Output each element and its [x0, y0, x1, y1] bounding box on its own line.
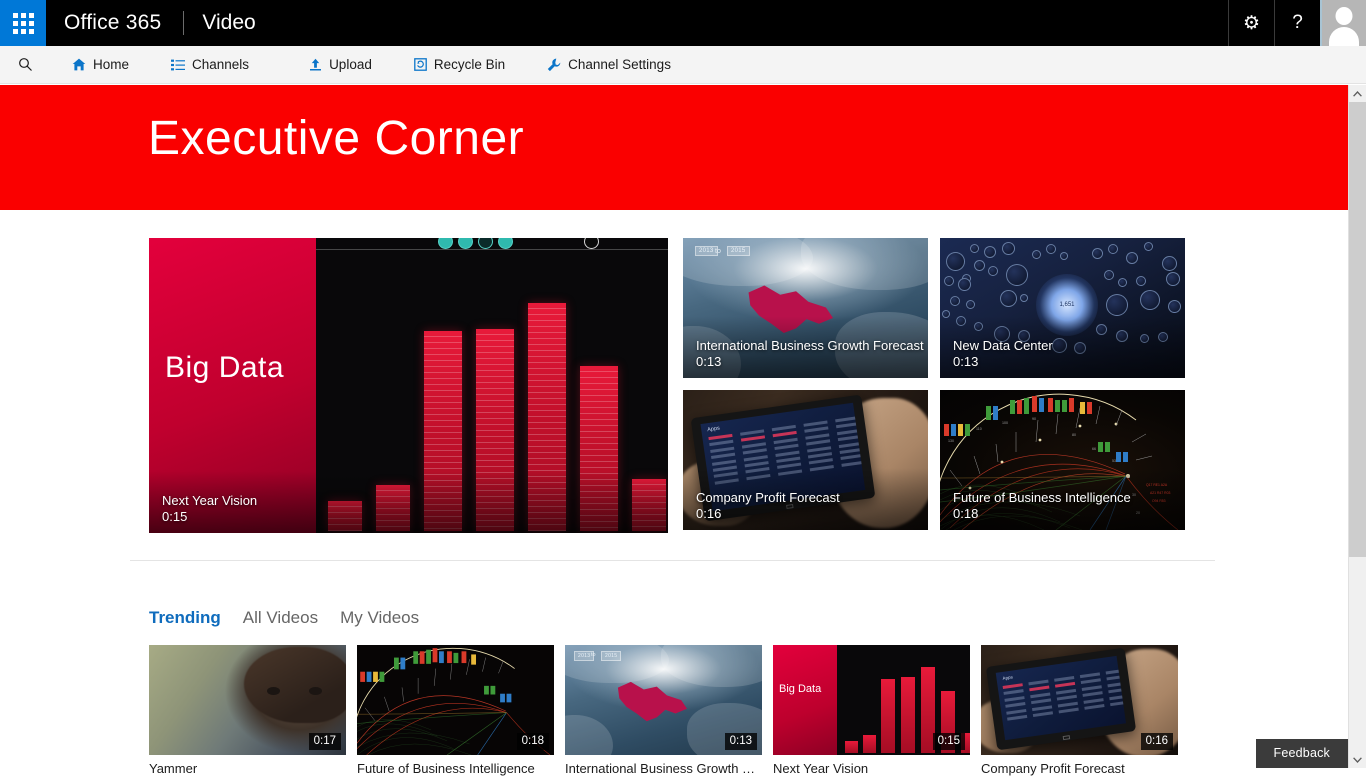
video-title: Future of Business Intelligence [357, 761, 554, 776]
tile-title: Company Profit Forecast [696, 490, 840, 505]
duration-badge: 0:15 [933, 733, 965, 750]
app-launcher-waffle-icon[interactable] [0, 0, 46, 46]
video-title: Next Year Vision [773, 761, 970, 776]
video-card[interactable]: 0:18 Future of Business Intelligence [357, 645, 554, 776]
nav-item-channel-settings[interactable]: Channel Settings [543, 46, 675, 84]
tile-duration: 0:16 [696, 506, 840, 522]
tile-title: International Business Growth Forecast [696, 338, 924, 353]
duration-badge: 0:13 [725, 733, 757, 750]
svg-text:110: 110 [976, 427, 982, 431]
nav-item-home[interactable]: Home [68, 46, 133, 84]
suite-bar: Office 365 Video ⚙ ? [0, 0, 1366, 46]
wrench-icon [547, 58, 561, 72]
avatar[interactable] [1320, 0, 1366, 46]
video-thumbnail[interactable]: 0:18 [357, 645, 554, 755]
map-to-label: to [715, 248, 721, 255]
tile-title: New Data Center [953, 338, 1053, 353]
tile-duration: 0:13 [953, 354, 1053, 370]
scroll-up-arrow-icon[interactable] [1349, 85, 1366, 102]
spotlight-tile-new-data-center[interactable]: 1,651 New Data Center 0:13 [940, 238, 1185, 378]
nav-item-recycle-bin-label: Recycle Bin [434, 57, 505, 72]
scroll-down-arrow-icon[interactable] [1349, 751, 1366, 768]
svg-text:130: 130 [948, 439, 954, 443]
section-divider [130, 560, 1215, 561]
video-card[interactable]: Big Data 0:15 Next Year Vision [773, 645, 970, 776]
feedback-button[interactable]: Feedback [1256, 739, 1349, 768]
hero-icon-row [316, 238, 668, 250]
waffle-grid [13, 13, 34, 34]
eye-right [309, 687, 322, 695]
scrollbar-thumb[interactable] [1349, 102, 1366, 557]
question-mark-icon[interactable]: ? [1274, 0, 1320, 46]
search-icon[interactable] [0, 57, 50, 72]
video-card[interactable]: 2013 to 2015 0:13 International Business… [565, 645, 762, 776]
hero-art-label: Big Data [165, 351, 284, 385]
duration-badge: 0:18 [517, 733, 549, 750]
tab-my-videos[interactable]: My Videos [340, 608, 419, 628]
channel-banner: Executive Corner [0, 85, 1348, 210]
svg-text:100: 100 [1002, 421, 1008, 425]
hero-caption: Next Year Vision 0:15 [162, 493, 257, 525]
svg-text:90: 90 [1032, 417, 1036, 421]
nav-item-channels-label: Channels [192, 57, 249, 72]
home-icon [72, 58, 86, 71]
tile-caption: Company Profit Forecast 0:16 [696, 490, 840, 522]
eye-left [267, 687, 280, 695]
duration-badge: 0:16 [1141, 733, 1173, 750]
hair-shape [244, 647, 346, 723]
nav-item-home-label: Home [93, 57, 129, 72]
spotlight-tile-international-business-growth-forecast[interactable]: 2013 to 2015 International Business Grow… [683, 238, 928, 378]
nav-item-channel-settings-label: Channel Settings [568, 57, 671, 72]
video-thumbnail[interactable]: Big Data 0:15 [773, 645, 970, 755]
video-tabs: Trending All Videos My Videos [149, 608, 419, 628]
tile-caption: International Business Growth Forecast 0… [696, 338, 924, 370]
svg-text:80: 80 [1072, 433, 1076, 437]
map-year-to: 2015 [727, 246, 750, 256]
navigation-bar: Home Channels Upload Re [0, 46, 1366, 84]
hero-duration: 0:15 [162, 509, 257, 525]
gear-icon[interactable]: ⚙ [1228, 0, 1274, 46]
vertical-scrollbar[interactable] [1348, 85, 1366, 768]
avatar-body [1329, 27, 1359, 46]
list-icon [171, 59, 185, 71]
nav-item-channels[interactable]: Channels [167, 46, 253, 84]
hero-title: Next Year Vision [162, 493, 257, 508]
red-panel [773, 645, 837, 755]
search-glyph [18, 57, 33, 72]
video-title: Company Profit Forecast [981, 761, 1178, 776]
nav-item-upload-label: Upload [329, 57, 372, 72]
apps-label: Apps [707, 426, 720, 434]
tab-all-videos[interactable]: All Videos [243, 608, 318, 628]
svg-text:66: 66 [1092, 447, 1096, 451]
spotlight-mosaic: Big Data [149, 238, 1185, 533]
avatar-head [1336, 7, 1353, 25]
recycle-bin-icon [414, 58, 427, 71]
app-name-video[interactable]: Video [184, 0, 273, 46]
video-card[interactable]: 0:17 Yammer [149, 645, 346, 776]
upload-arrow-icon [309, 58, 322, 71]
spotlight-hero-tile[interactable]: Big Data [149, 238, 668, 533]
video-thumbnail[interactable]: Apps [981, 645, 1178, 755]
video-thumbnail[interactable]: 0:17 [149, 645, 346, 755]
trending-video-list: 0:17 Yammer [149, 645, 1178, 776]
tab-trending[interactable]: Trending [149, 608, 221, 628]
tile-title: Future of Business Intelligence [953, 490, 1131, 505]
tile-caption: New Data Center 0:13 [953, 338, 1053, 370]
duration-badge: 0:17 [309, 733, 341, 750]
tile-duration: 0:13 [696, 354, 924, 370]
suite-bar-actions: ⚙ ? [1228, 0, 1366, 46]
video-title: International Business Growth Forec [565, 761, 762, 776]
spotlight-tile-company-profit-forecast[interactable]: Apps [683, 390, 928, 530]
big-data-label: Big Data [779, 683, 821, 695]
nav-item-recycle-bin[interactable]: Recycle Bin [410, 46, 509, 84]
video-thumbnail[interactable]: 2013 to 2015 0:13 [565, 645, 762, 755]
video-card[interactable]: Apps [981, 645, 1178, 776]
office-365-brand[interactable]: Office 365 [46, 0, 183, 46]
page-title: Executive Corner [148, 111, 524, 166]
spotlight-tile-future-of-business-intelligence[interactable]: 130110 10090 8066 5345 3020 Q17 RE1 A2AA… [940, 390, 1185, 530]
tile-caption: Future of Business Intelligence 0:18 [953, 490, 1131, 522]
video-title: Yammer [149, 761, 346, 776]
tile-duration: 0:18 [953, 506, 1131, 522]
nav-item-upload[interactable]: Upload [305, 46, 376, 84]
svg-text:53: 53 [1112, 459, 1116, 463]
